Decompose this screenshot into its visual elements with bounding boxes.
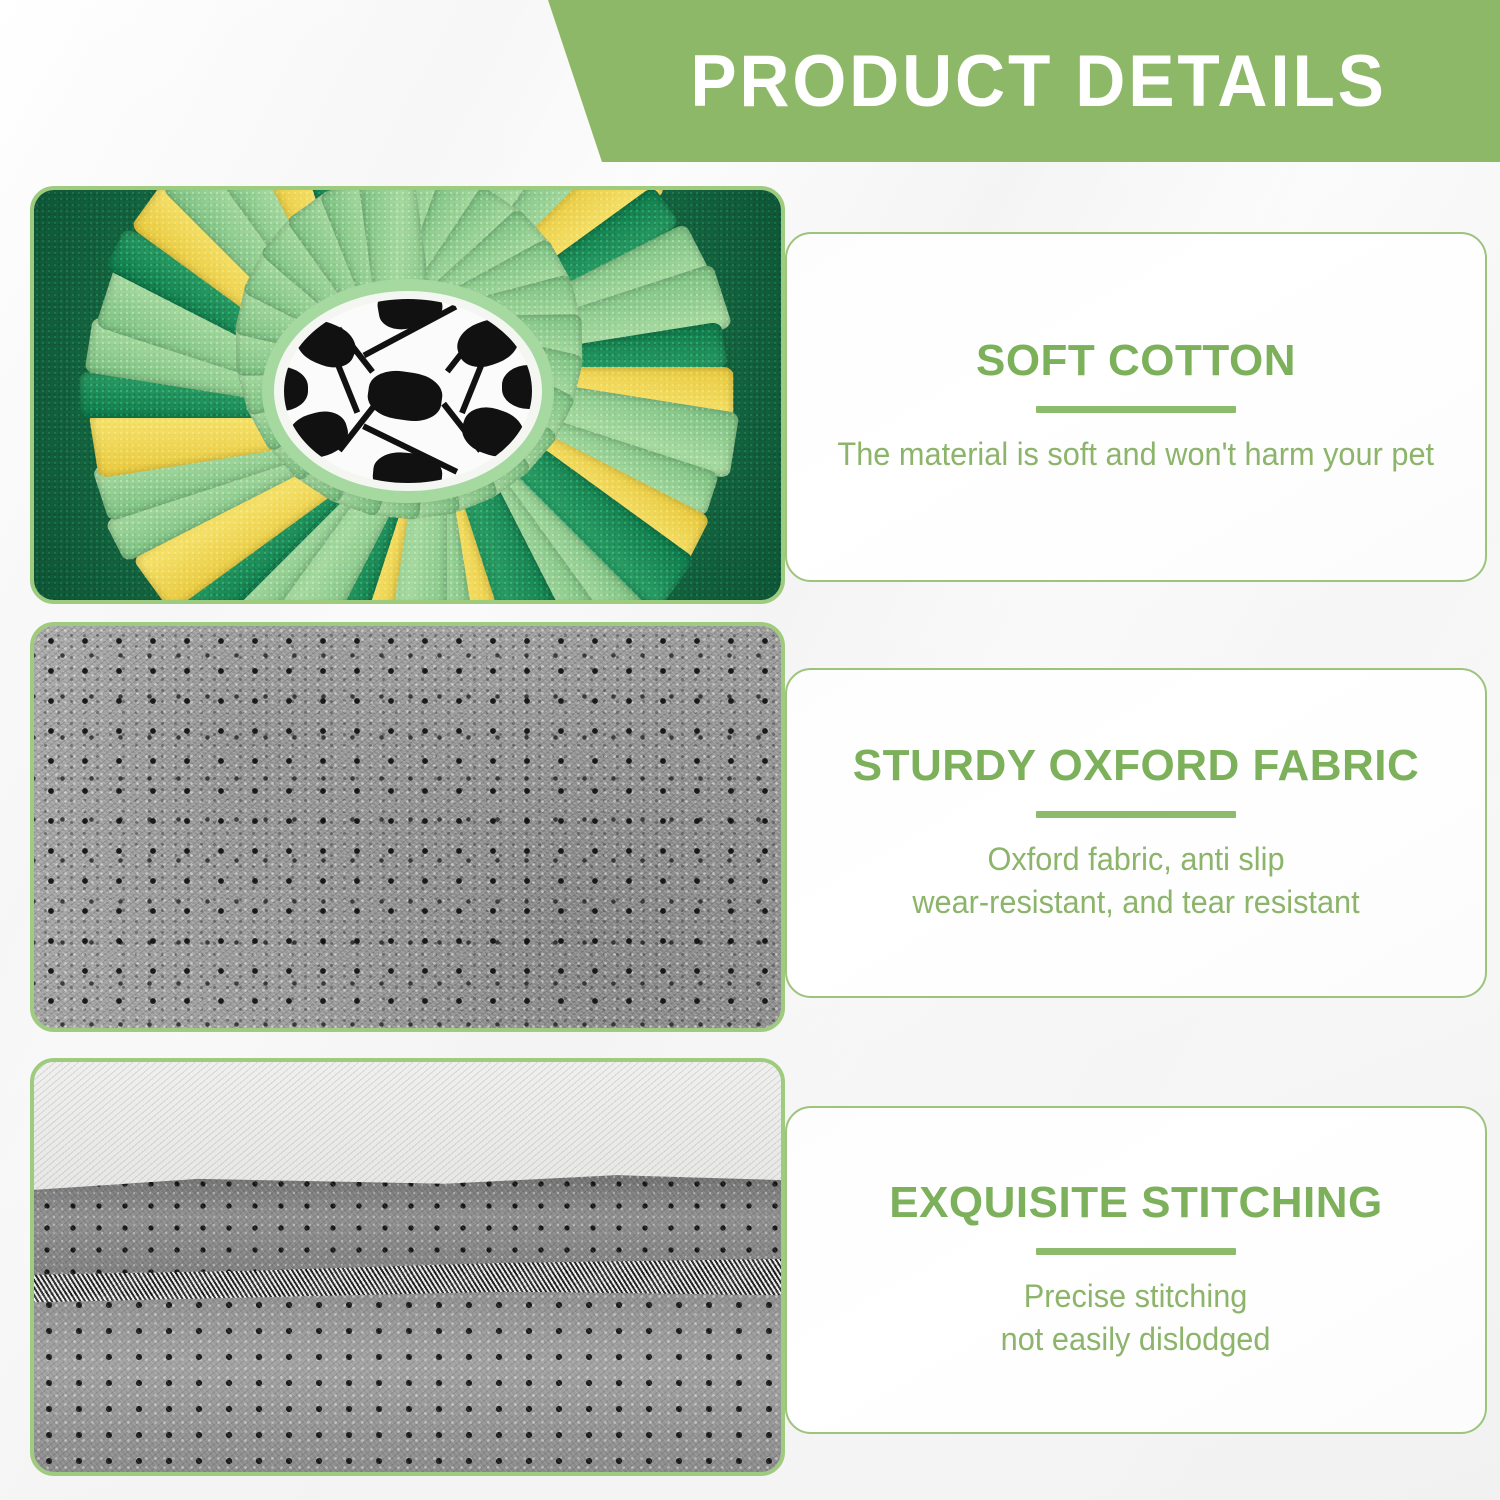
feature-title-soft-cotton: SOFT COTTON	[976, 338, 1296, 384]
feature-row-soft-cotton: SOFT COTTON The material is soft and won…	[0, 186, 1500, 604]
feature-description-line: not easily dislodged	[1001, 1318, 1271, 1360]
feature-image-oxford-fabric	[30, 622, 785, 1032]
feature-row-exquisite-stitching: EXQUISITE STITCHING Precise stitching no…	[0, 1058, 1500, 1476]
oxford-felt-photo	[34, 626, 781, 1028]
feature-title-exquisite-stitching: EXQUISITE STITCHING	[889, 1180, 1383, 1226]
page-title: PRODUCT DETAILS	[653, 45, 1387, 118]
title-divider	[1036, 1248, 1236, 1255]
feature-description-line: wear-resistant, and tear resistant	[912, 881, 1359, 923]
feature-image-soft-cotton	[30, 186, 785, 604]
soccer-ball-patch-segment	[365, 368, 445, 426]
soccer-ball-patch	[274, 291, 542, 491]
feature-description-oxford-fabric: Oxford fabric, anti slip wear-resistant,…	[912, 838, 1359, 922]
title-divider	[1036, 406, 1236, 413]
fabric-fiber-overlay	[34, 1062, 781, 1472]
feature-text-card-soft-cotton: SOFT COTTON The material is soft and won…	[785, 232, 1487, 582]
feature-row-oxford-fabric: STURDY OXFORD FABRIC Oxford fabric, anti…	[0, 622, 1500, 1032]
product-details-page: PRODUCT DETAILS SOFT COTTON The material…	[0, 0, 1500, 1500]
soccer-ball-patch-segment	[371, 450, 444, 482]
stitching-photo	[34, 1062, 781, 1472]
title-divider	[1036, 811, 1236, 818]
feature-description-line: Oxford fabric, anti slip	[912, 838, 1359, 880]
feature-title-oxford-fabric: STURDY OXFORD FABRIC	[853, 743, 1420, 789]
feature-description-soft-cotton: The material is soft and won't harm your…	[838, 433, 1435, 475]
header-banner: PRODUCT DETAILS	[540, 0, 1500, 162]
feature-image-exquisite-stitching	[30, 1058, 785, 1476]
feature-description-exquisite-stitching: Precise stitching not easily dislodged	[1001, 1275, 1271, 1359]
feature-description-line: Precise stitching	[1001, 1275, 1271, 1317]
feature-text-card-oxford-fabric: STURDY OXFORD FABRIC Oxford fabric, anti…	[785, 668, 1487, 998]
feature-text-card-exquisite-stitching: EXQUISITE STITCHING Precise stitching no…	[785, 1106, 1487, 1434]
anti-slip-nubs-overlay	[34, 626, 781, 1028]
soccer-ball-patch-segment	[502, 365, 532, 409]
soccer-ball-patch-segment	[284, 367, 309, 411]
snuffle-mat-photo	[34, 190, 781, 600]
